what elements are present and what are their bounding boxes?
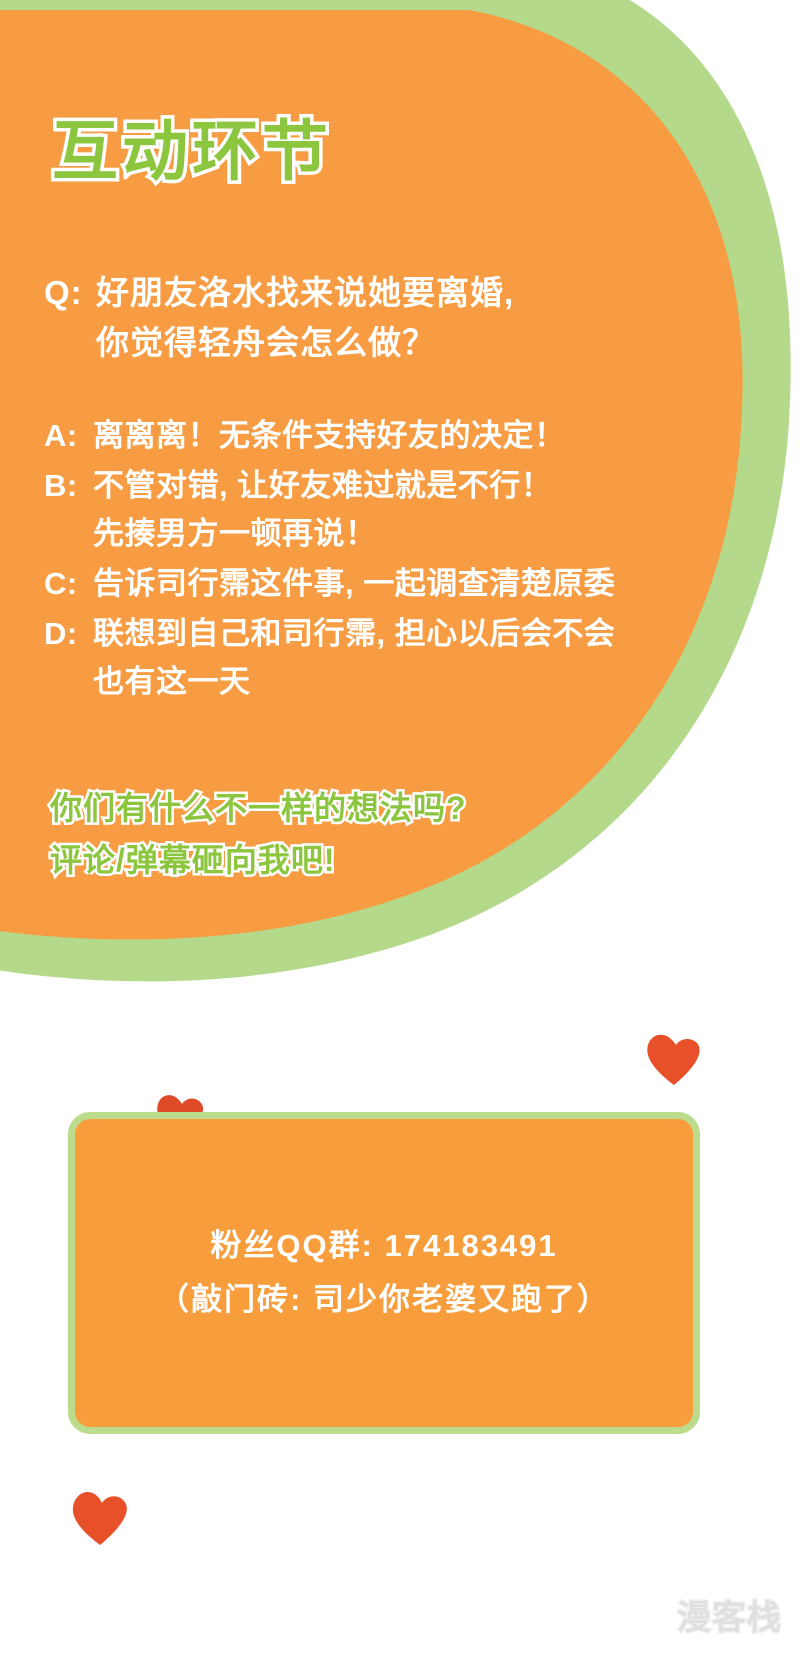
answer-text-b: 不管对错, 让好友难过就是不行！ 先揍男方一顿再说！: [93, 462, 784, 558]
answer-text-c: 告诉司行霈这件事, 一起调查清楚原委: [93, 560, 784, 608]
question-line-1: 好朋友洛水找来说她要离婚,: [96, 268, 774, 318]
answer-key-a: A:: [44, 412, 93, 460]
answer-option-d[interactable]: D: 联想到自己和司行霈, 担心以后会不会 也有这一天: [44, 610, 784, 706]
qq-group-number-line: 粉丝QQ群: 174183491: [210, 1219, 557, 1273]
answer-option-a[interactable]: A: 离离离！无条件支持好友的决定！: [44, 412, 784, 460]
question-text: 好朋友洛水找来说她要离婚, 你觉得轻舟会怎么做？: [96, 268, 774, 368]
page-title: 互动环节: [52, 118, 332, 184]
answer-a-line-1: 离离离！无条件支持好友的决定！: [93, 412, 784, 460]
cta-line-1: 你们有什么不一样的想法吗?: [50, 782, 467, 834]
answer-key-b: B:: [44, 462, 93, 510]
answer-options: A: 离离离！无条件支持好友的决定！ B: 不管对错, 让好友难过就是不行！ 先…: [44, 412, 784, 708]
answer-option-b[interactable]: B: 不管对错, 让好友难过就是不行！ 先揍男方一顿再说！: [44, 462, 784, 558]
call-to-action: 你们有什么不一样的想法吗? 评论/弹幕砸向我吧!: [50, 782, 467, 886]
answer-c-line-1: 告诉司行霈这件事, 一起调查清楚原委: [93, 560, 784, 608]
question-row: Q: 好朋友洛水找来说她要离婚, 你觉得轻舟会怎么做？: [44, 268, 774, 368]
answer-d-line-2: 也有这一天: [93, 658, 784, 706]
answer-text-d: 联想到自己和司行霈, 担心以后会不会 也有这一天: [93, 610, 784, 706]
qq-group-box: 粉丝QQ群: 174183491 （敲门砖: 司少你老婆又跑了）: [68, 1112, 700, 1434]
answer-b-line-2: 先揍男方一顿再说！: [93, 510, 784, 558]
question-line-2: 你觉得轻舟会怎么做？: [96, 318, 774, 368]
question-block: Q: 好朋友洛水找来说她要离婚, 你觉得轻舟会怎么做？: [44, 268, 774, 368]
qq-group-passphrase-line: （敲门砖: 司少你老婆又跑了）: [158, 1273, 610, 1327]
watermark-logo: 漫客栈: [677, 1590, 782, 1639]
answer-key-c: C:: [44, 560, 93, 608]
answer-d-line-1: 联想到自己和司行霈, 担心以后会不会: [93, 610, 784, 658]
answer-key-d: D:: [44, 610, 93, 658]
answer-option-c[interactable]: C: 告诉司行霈这件事, 一起调查清楚原委: [44, 560, 784, 608]
answer-b-line-1: 不管对错, 让好友难过就是不行！: [93, 462, 784, 510]
answer-text-a: 离离离！无条件支持好友的决定！: [93, 412, 784, 460]
cta-line-2: 评论/弹幕砸向我吧!: [50, 834, 467, 886]
question-key: Q:: [44, 268, 96, 318]
